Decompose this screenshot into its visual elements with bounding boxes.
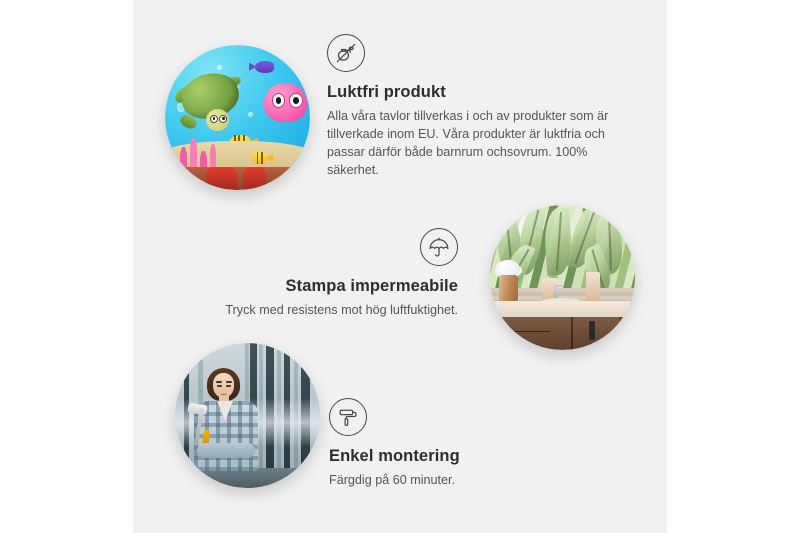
feature-title: Luktfri produkt bbox=[327, 82, 627, 103]
smile bbox=[220, 391, 227, 395]
feature-easy-mounting-text: Enkel montering Färgdig på 60 minuter. bbox=[329, 446, 609, 489]
blue-fish bbox=[255, 61, 274, 73]
feature-odourless: Luktfri produkt Alla våra tavlor tillver… bbox=[327, 34, 627, 180]
cabinet-seam bbox=[571, 317, 573, 350]
feature-body: Alla våra tavlor tillverkas i och av pro… bbox=[327, 107, 627, 180]
content-panel: Luktfri produkt Alla våra tavlor tillver… bbox=[133, 0, 667, 533]
yellow-fish bbox=[252, 152, 268, 164]
eyebrow bbox=[216, 381, 222, 383]
fish-stripe bbox=[257, 152, 258, 164]
octopus-eye bbox=[289, 93, 303, 108]
red-rock bbox=[243, 167, 266, 190]
sea-bed-strip bbox=[165, 167, 310, 190]
feature-easy-mounting: Enkel montering Färgdig på 60 minuter. bbox=[329, 398, 609, 489]
paint-roller-icon bbox=[329, 398, 367, 436]
feature-title: Stampa impermeabile bbox=[178, 276, 458, 297]
feature-body: Tryck med resistens mot hög luftfuktighe… bbox=[178, 301, 458, 319]
umbrella-icon bbox=[420, 228, 458, 266]
eyebrow bbox=[226, 381, 232, 383]
feature-body: Färgdig på 60 minuter. bbox=[329, 471, 609, 489]
cabinet-handle bbox=[629, 321, 635, 340]
forest-ground bbox=[175, 468, 320, 488]
bathroom-tropical-wallpaper-photo bbox=[490, 205, 635, 350]
woman-paint-roller-forest-mural-photo bbox=[175, 343, 320, 488]
feature-odourless-text: Luktfri produkt Alla våra tavlor tillver… bbox=[327, 82, 627, 180]
drawer-handle bbox=[514, 331, 550, 333]
feature-waterproof: Stampa impermeabile Tryck med resistens … bbox=[178, 228, 458, 319]
eye bbox=[217, 385, 222, 387]
fish-stripe bbox=[261, 152, 262, 164]
cabinet-seam bbox=[620, 317, 622, 350]
turtle-eye bbox=[210, 115, 218, 123]
folded-arms bbox=[197, 443, 255, 458]
product-feature-infographic: Luktfri produkt Alla våra tavlor tillver… bbox=[0, 0, 800, 533]
countertop bbox=[490, 301, 635, 318]
cabinet-handle bbox=[589, 321, 595, 340]
feature-title: Enkel montering bbox=[329, 446, 609, 467]
feature-waterproof-text: Stampa impermeabile Tryck med resistens … bbox=[178, 276, 458, 319]
red-rock bbox=[206, 167, 238, 190]
no-odour-spray-bottle-icon bbox=[327, 34, 365, 72]
towel bbox=[586, 272, 601, 302]
octopus-eye bbox=[272, 93, 286, 108]
underwater-kids-mural-photo bbox=[165, 45, 310, 190]
vanity-cabinet bbox=[493, 317, 635, 350]
